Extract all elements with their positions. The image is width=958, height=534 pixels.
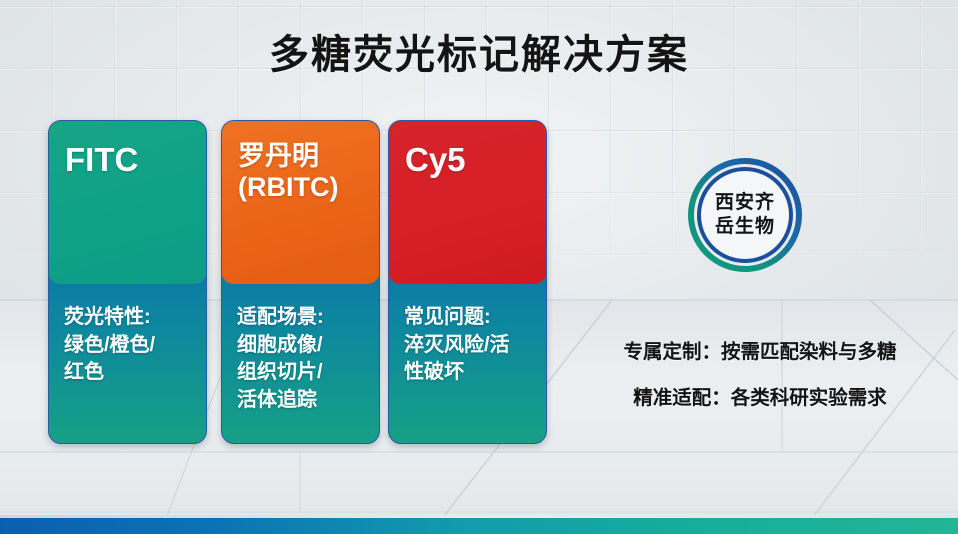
page-title: 多糖荧光标记解决方案 <box>0 22 958 80</box>
card-fitc-title: FITC <box>65 141 196 179</box>
card-rbitc-title: 罗丹明 (RBITC) <box>238 141 369 204</box>
card-fitc-body: 荧光特性: 绿色/橙色/ 红色 <box>64 304 196 387</box>
card-cy5-body: 常见问题: 淬灭风险/活 性破坏 <box>404 304 536 387</box>
card-rbitc[interactable]: 罗丹明 (RBITC) 适配场景: 细胞成像/ 组织切片/ 活体追踪 <box>221 120 380 444</box>
card-cy5-title: Cy5 <box>405 141 536 179</box>
right-text-line-1: 专属定制：按需匹配染料与多糖 <box>560 335 958 364</box>
bottom-accent-bar <box>0 518 958 534</box>
right-text-line-2: 精准适配：各类科研实验需求 <box>560 381 958 410</box>
slide-canvas: 多糖荧光标记解决方案 FITC 荧光特性: 绿色/橙色/ 红色 罗丹明 (RBI… <box>0 0 958 534</box>
card-cy5[interactable]: Cy5 常见问题: 淬灭风险/活 性破坏 <box>388 120 547 444</box>
brand-line-1: 西安齐 <box>715 191 775 215</box>
brand-line-2: 岳生物 <box>715 215 775 239</box>
brand-badge-text: 西安齐 岳生物 <box>687 157 803 273</box>
card-rbitc-body: 适配场景: 细胞成像/ 组织切片/ 活体追踪 <box>237 304 369 414</box>
brand-badge: 西安齐 岳生物 <box>687 157 803 273</box>
card-fitc[interactable]: FITC 荧光特性: 绿色/橙色/ 红色 <box>48 120 207 444</box>
